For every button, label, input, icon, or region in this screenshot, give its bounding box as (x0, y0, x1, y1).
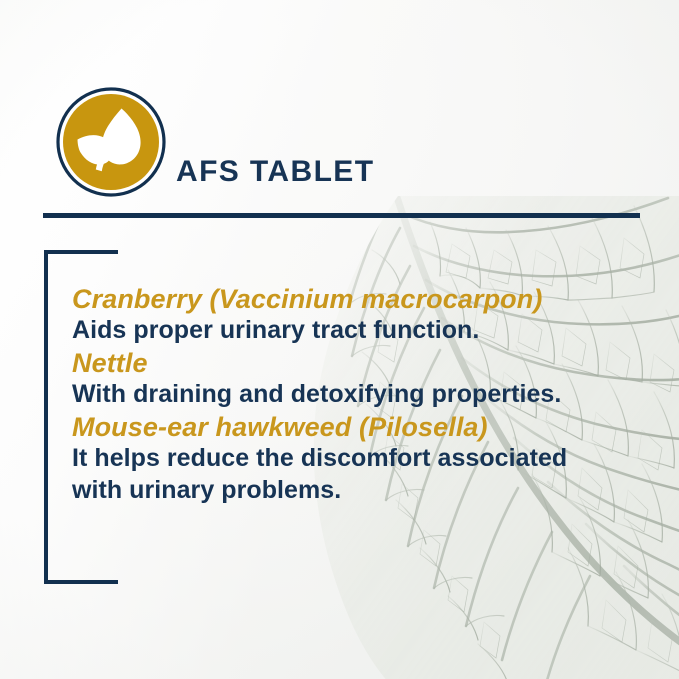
ingredient-name-nettle: Nettle (72, 348, 672, 380)
leaf-sprig-icon (55, 86, 167, 198)
ingredient-description-mouse-ear-hawkweed-line1: It helps reduce the discomfort associate… (72, 444, 672, 473)
bracket-bottom-arm (44, 580, 118, 584)
ingredients-list: Cranberry (Vaccinium macrocarpon) Aids p… (72, 284, 672, 506)
ingredient-name-mouse-ear-hawkweed: Mouse-ear hawkweed (Pilosella) (72, 412, 672, 444)
bracket-left-stem (44, 250, 48, 584)
ingredient-description-cranberry: Aids proper urinary tract function. (72, 316, 672, 345)
ingredient-description-nettle: With draining and detoxifying properties… (72, 380, 672, 409)
ingredient-name-cranberry: Cranberry (Vaccinium macrocarpon) (72, 284, 672, 316)
bracket-top-arm (44, 250, 118, 254)
ingredient-description-mouse-ear-hawkweed-line2: with urinary problems. (72, 476, 672, 505)
page-title: AFS TABLET (176, 157, 374, 187)
header-divider (43, 213, 640, 218)
product-info-card: AFS TABLET Cranberry (Vaccinium macrocar… (0, 0, 679, 679)
